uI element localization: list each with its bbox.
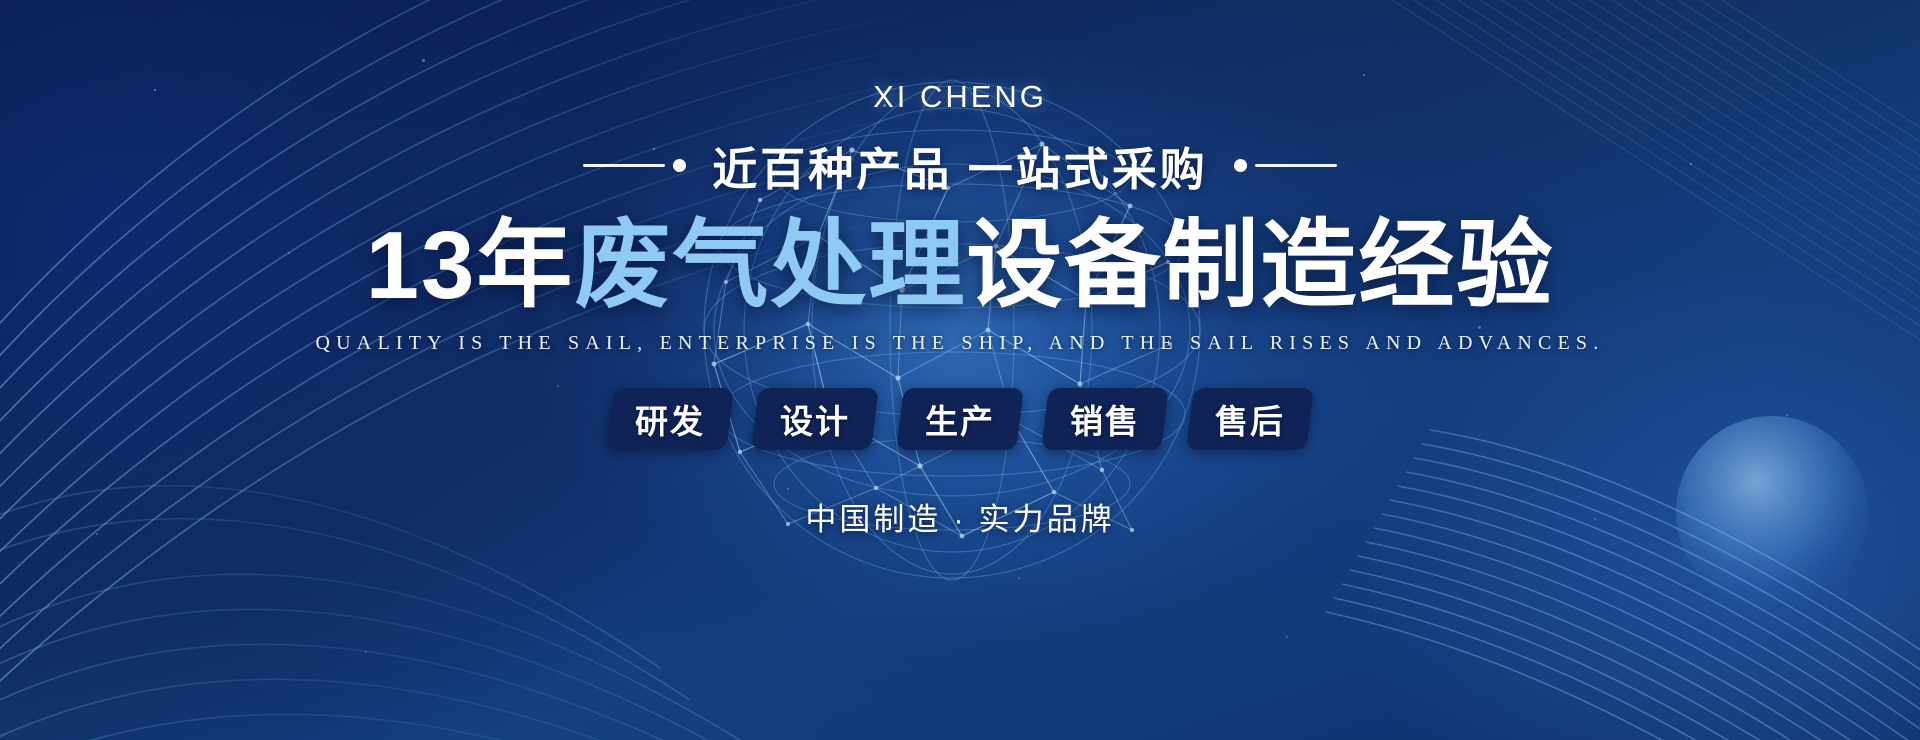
- decorative-bar: [583, 164, 665, 167]
- service-pill-label: 售后: [1215, 395, 1285, 443]
- headline-accent: 废气处理: [574, 212, 966, 319]
- service-pill-design[interactable]: 设计: [751, 388, 879, 450]
- footnote-separator: ·: [941, 502, 978, 537]
- banner-content: XI CHENG 近百种产品 一站式采购 13年废气处理设备制造经验 QUALI…: [0, 0, 1920, 740]
- subheadline-row: 近百种产品 一站式采购: [583, 133, 1337, 198]
- headline-lead: 13年: [366, 212, 575, 319]
- hero-banner: XI CHENG 近百种产品 一站式采购 13年废气处理设备制造经验 QUALI…: [0, 0, 1920, 740]
- service-pill-production[interactable]: 生产: [896, 388, 1024, 450]
- headline: 13年废气处理设备制造经验: [366, 212, 1555, 320]
- decorative-dot: [673, 159, 686, 172]
- brand-name: XI CHENG: [873, 79, 1047, 115]
- footnote-left: 中国制造: [805, 502, 941, 537]
- english-tagline: QUALITY IS THE SAIL, ENTERPRISE IS THE S…: [316, 332, 1605, 355]
- footnote: 中国制造·实力品牌: [805, 494, 1114, 539]
- service-pill-label: 生产: [925, 395, 995, 443]
- service-pill-sales[interactable]: 销售: [1041, 388, 1169, 450]
- service-pill-label: 设计: [780, 395, 850, 443]
- decorative-line-left: [583, 159, 686, 172]
- service-pill-label: 销售: [1070, 395, 1140, 443]
- headline-trail: 设备制造经验: [966, 212, 1554, 319]
- service-pill-aftersales[interactable]: 售后: [1186, 388, 1314, 450]
- footnote-right: 实力品牌: [979, 502, 1115, 537]
- decorative-line-right: [1234, 159, 1337, 172]
- service-pill-row: 研发 设计 生产 销售 售后: [610, 388, 1310, 450]
- decorative-bar: [1255, 164, 1337, 167]
- decorative-dot: [1234, 159, 1247, 172]
- subheadline: 近百种产品 一站式采购: [712, 133, 1208, 198]
- service-pill-rnd[interactable]: 研发: [606, 388, 734, 450]
- service-pill-label: 研发: [635, 395, 705, 443]
